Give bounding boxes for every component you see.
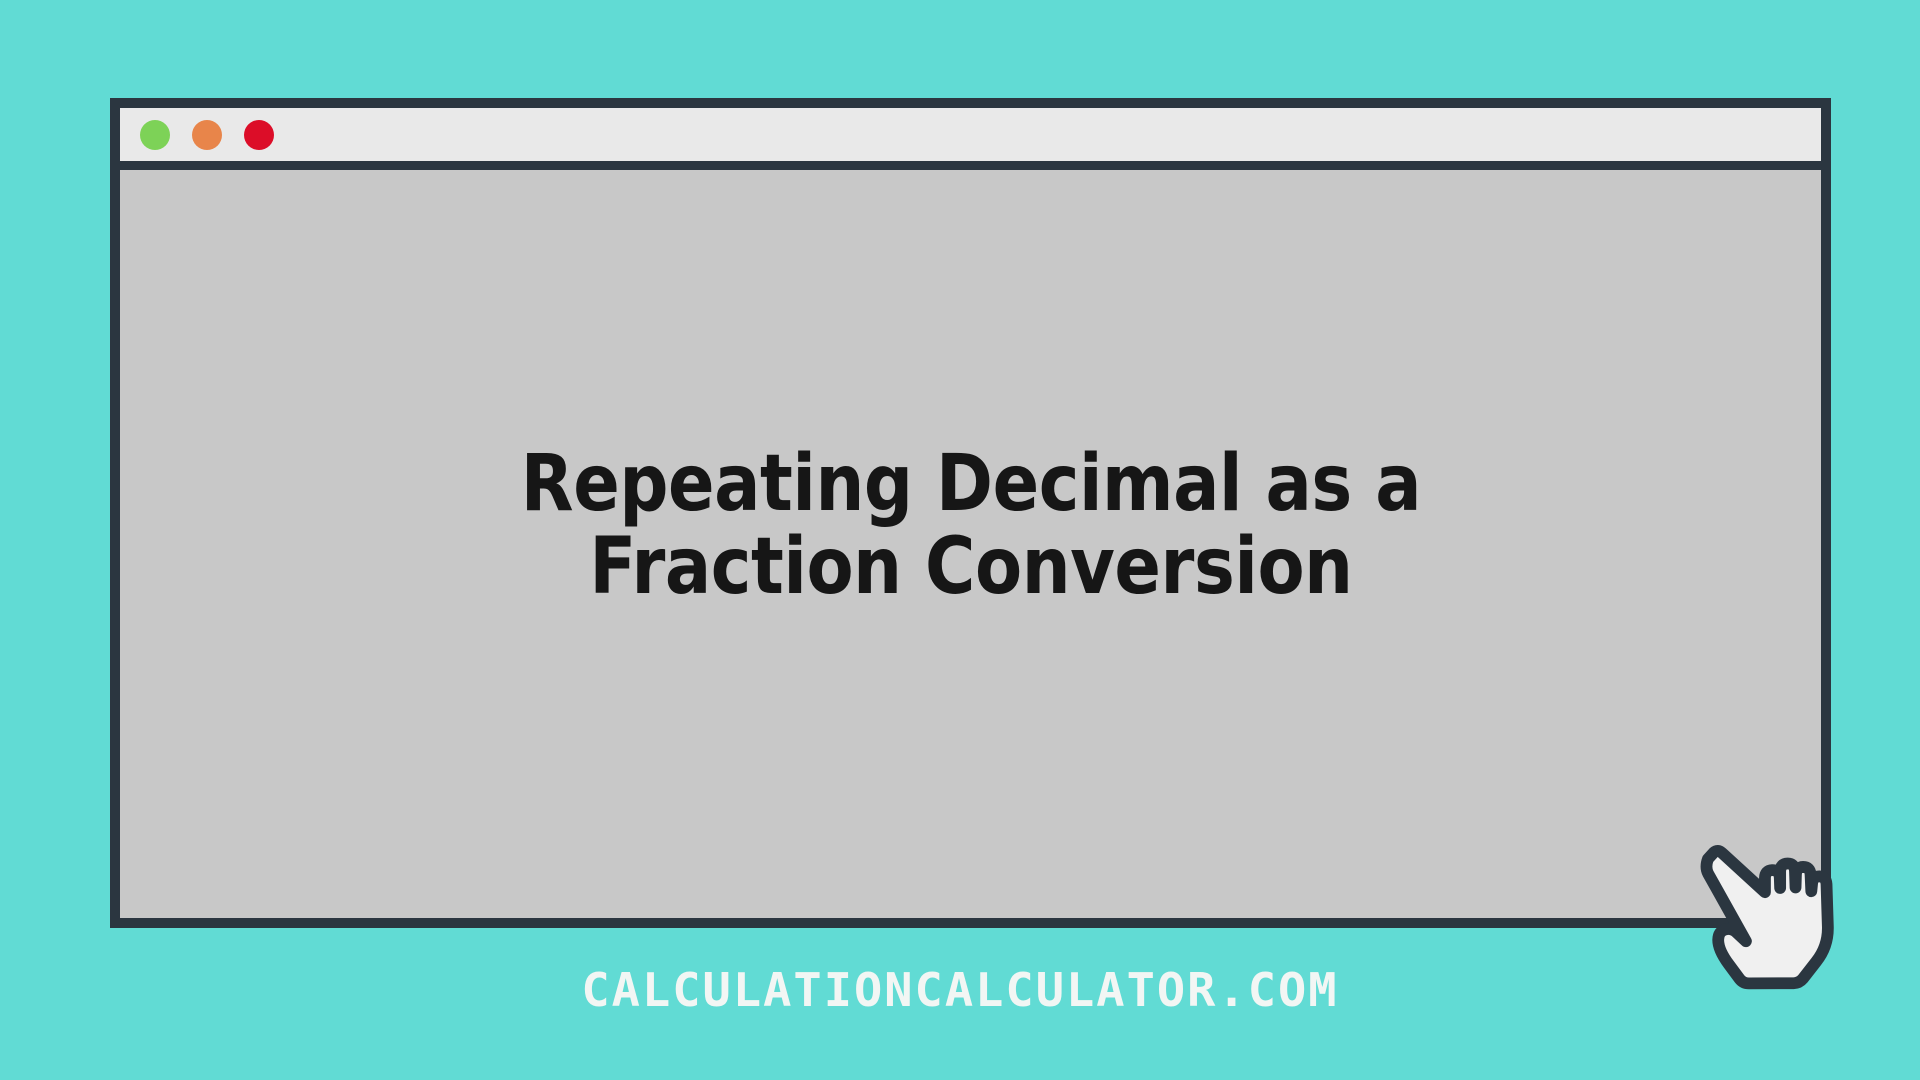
window-close-button[interactable] [244, 120, 274, 150]
window-content-area: Repeating Decimal as a Fraction Conversi… [120, 170, 1821, 918]
poster-canvas: Repeating Decimal as a Fraction Conversi… [0, 0, 1920, 1080]
site-url-watermark: CALCULATIONCALCULATOR.COM [0, 963, 1920, 1017]
window-minimize-button[interactable] [140, 120, 170, 150]
window-maximize-button[interactable] [192, 120, 222, 150]
page-title: Repeating Decimal as a Fraction Conversi… [385, 443, 1555, 610]
window-controls [140, 120, 274, 150]
window-title-bar [120, 108, 1821, 170]
browser-window-mockup: Repeating Decimal as a Fraction Conversi… [110, 98, 1831, 928]
